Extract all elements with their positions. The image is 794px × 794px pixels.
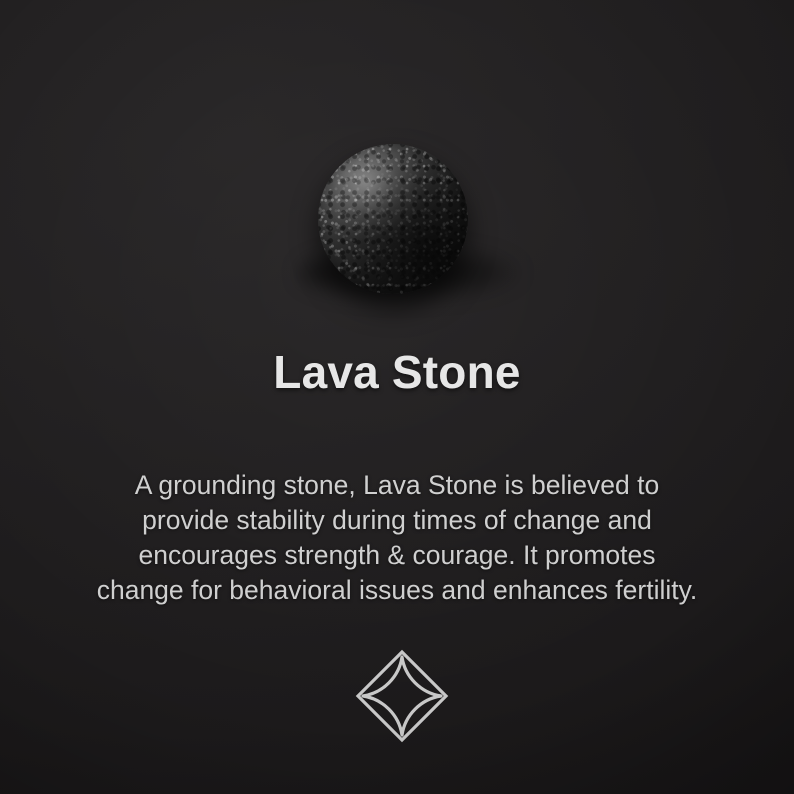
stone-description: A grounding stone, Lava Stone is believe… [92, 468, 702, 608]
hero-image [0, 0, 794, 330]
lava-stone-sphere [318, 144, 468, 294]
diamond-star-icon [355, 649, 449, 743]
lava-stone-card: Lava Stone A grounding stone, Lava Stone… [0, 0, 794, 794]
stone-shading-overlay [318, 144, 468, 294]
page-title: Lava Stone [0, 345, 794, 399]
inner-four-point-star [363, 657, 441, 735]
diamond-star-logo [355, 649, 449, 743]
diamond-outline [358, 652, 446, 740]
